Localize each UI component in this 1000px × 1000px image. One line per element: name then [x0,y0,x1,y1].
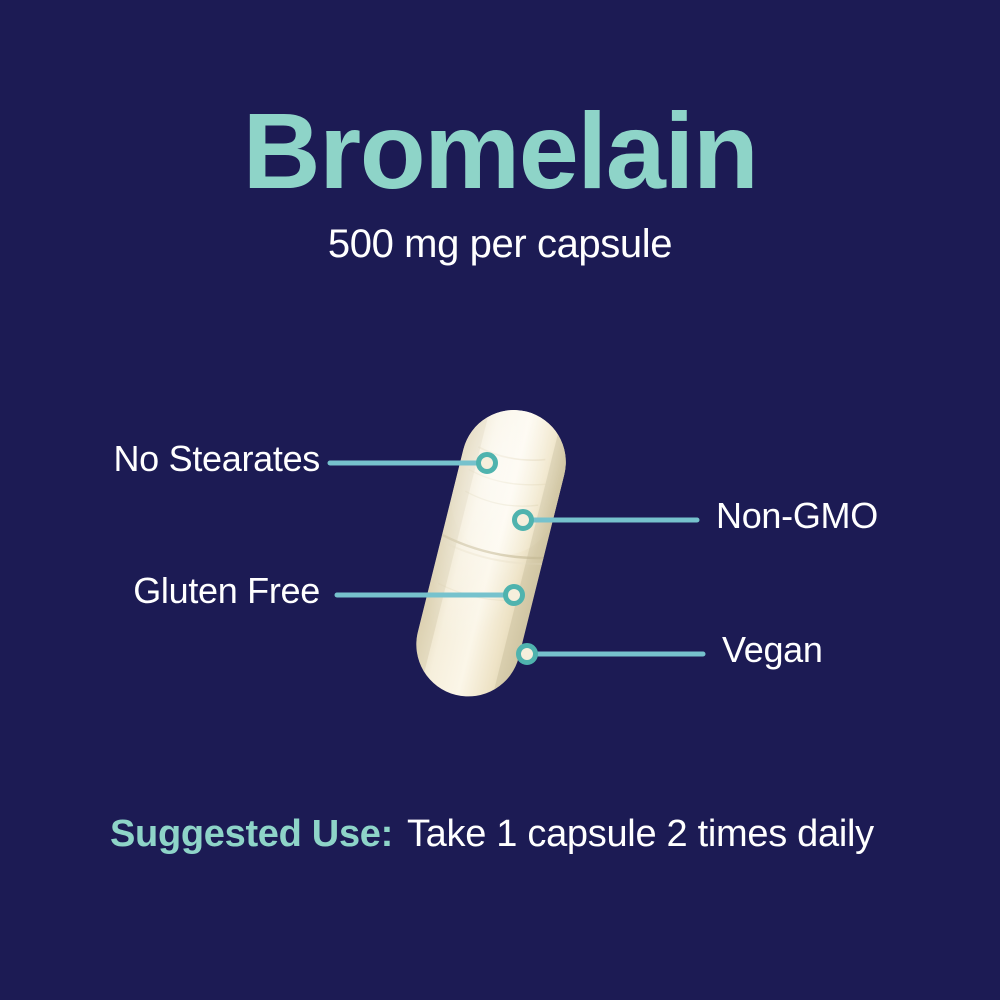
product-infographic: Bromelain 500 mg per capsule [0,0,1000,1000]
capsule-illustration [400,400,620,730]
capsule-image [400,400,620,730]
capsule-highlight [405,400,577,707]
callout-label-non-gmo: Non-GMO [716,495,878,537]
suggested-use-label: Suggested Use: [110,813,393,855]
suggested-use-text: Take 1 capsule 2 times daily [407,813,874,855]
suggested-use-block: Suggested Use:Take 1 capsule 2 times dai… [110,806,910,862]
product-dosage-subtitle: 500 mg per capsule [0,222,1000,267]
callout-label-no-stearates: No Stearates [113,438,320,480]
callout-label-gluten-free: Gluten Free [133,570,320,612]
callout-label-vegan: Vegan [722,629,823,671]
header: Bromelain 500 mg per capsule [0,96,1000,267]
page-title: Bromelain [0,96,1000,206]
